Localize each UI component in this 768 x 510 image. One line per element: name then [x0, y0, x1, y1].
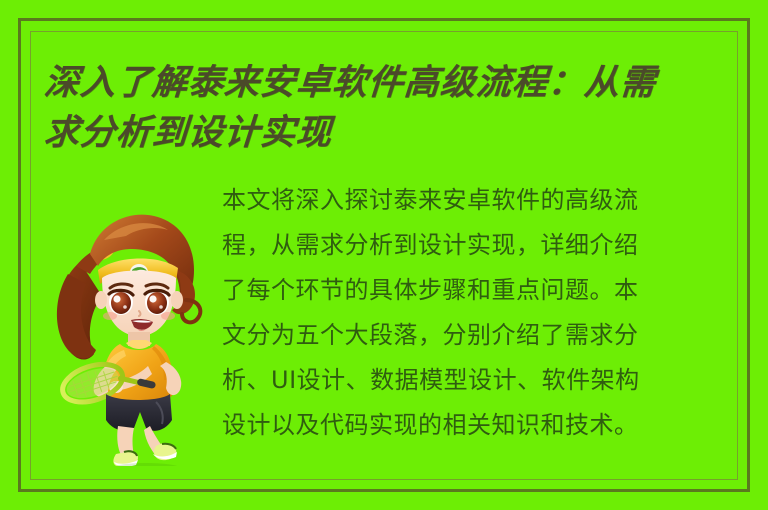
page-title: 深入了解泰来安卓软件高级流程：从需 求分析到设计实现 — [44, 58, 734, 158]
eye-right — [145, 289, 169, 315]
title-line-1: 深入了解泰来安卓软件高级流程：从需 — [42, 58, 735, 108]
eye-left — [109, 289, 133, 315]
body-line-5: 析、UI设计、数据模型设计、软件架构 — [222, 358, 734, 403]
article-summary: 本文将深入探讨泰来安卓软件的高级流 程，从需求分析到设计实现，详细介绍 了每个环… — [222, 178, 734, 448]
article-banner: 深入了解泰来安卓软件高级流程：从需 求分析到设计实现 本文将深入探讨泰来安卓软件… — [0, 0, 768, 510]
body-line-2: 程，从需求分析到设计实现，详细介绍 — [222, 223, 734, 268]
body-line-4: 文分为五个大段落，分别介绍了需求分 — [222, 313, 734, 358]
title-line-2: 求分析到设计实现 — [42, 108, 735, 158]
chibi-badminton-girl-illustration — [46, 196, 226, 466]
body-line-3: 了每个环节的具体步骤和重点问题。本 — [222, 268, 734, 313]
body-line-1: 本文将深入探讨泰来安卓软件的高级流 — [222, 178, 734, 223]
body-line-6: 设计以及代码实现的相关知识和技术。 — [222, 403, 734, 448]
face — [95, 271, 183, 337]
